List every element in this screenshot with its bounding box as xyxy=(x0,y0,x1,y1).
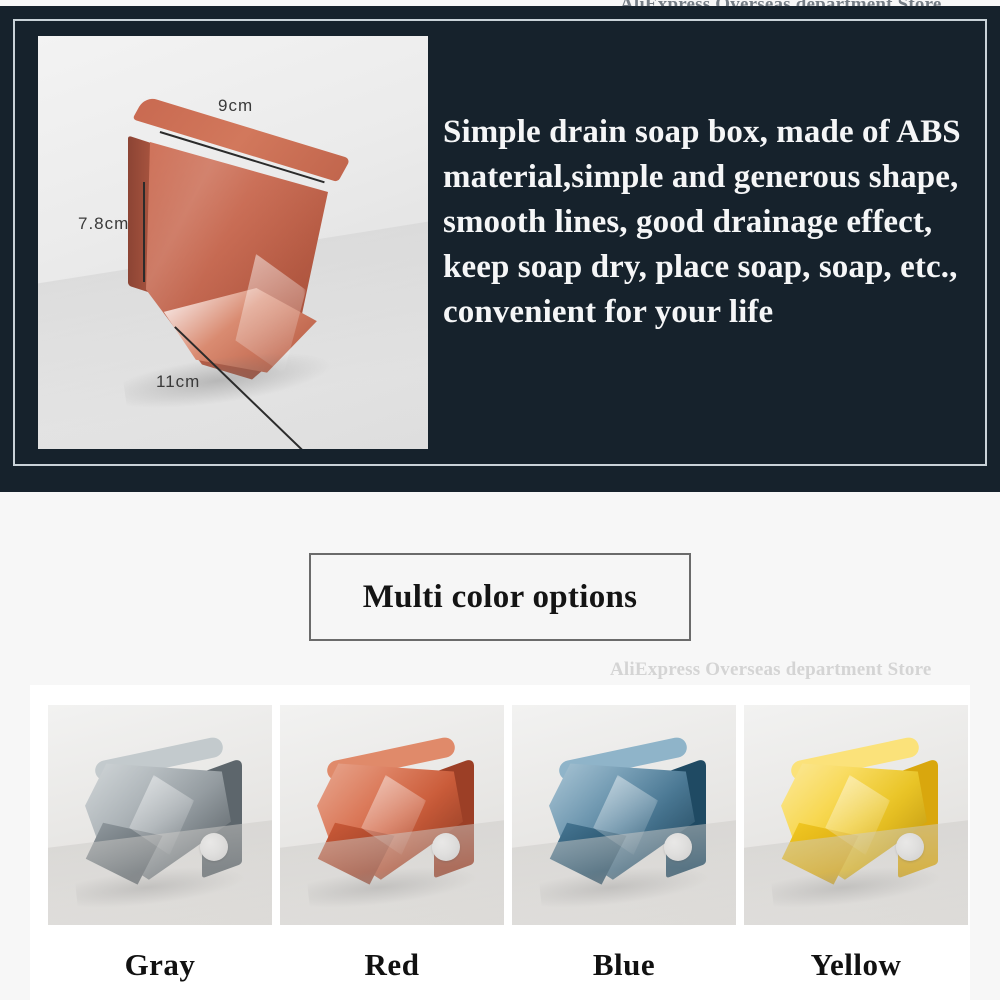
dish-shadow xyxy=(771,860,942,911)
section-heading-box: Multi color options xyxy=(309,553,691,641)
color-option-red[interactable]: Red xyxy=(280,705,504,983)
dimension-label-height: 7.8cm xyxy=(78,214,129,234)
color-option-blue[interactable]: Blue xyxy=(512,705,736,983)
color-option-image[interactable] xyxy=(744,705,968,925)
color-swatch-row: GrayRedBlueYellow xyxy=(48,705,952,983)
color-option-image[interactable] xyxy=(48,705,272,925)
dish-shadow xyxy=(75,860,246,911)
dimension-line-height xyxy=(143,182,145,282)
watermark-middle: AliExpress Overseas department Store xyxy=(610,659,932,681)
dish-shadow xyxy=(539,860,710,911)
soap-dish-illustration xyxy=(116,104,366,404)
dimension-label-width: 9cm xyxy=(218,96,253,116)
wall-mount-knob xyxy=(664,833,692,861)
section-heading-text: Multi color options xyxy=(363,579,638,616)
soap-dish-thumbnail xyxy=(306,741,482,901)
soap-dish-thumbnail xyxy=(538,741,714,901)
color-option-image[interactable] xyxy=(280,705,504,925)
dish-shadow xyxy=(307,860,478,911)
hero-description: Simple drain soap box, made of ABS mater… xyxy=(443,110,963,335)
wall-mount-knob xyxy=(432,833,460,861)
color-option-label: Yellow xyxy=(744,947,968,983)
soap-dish-thumbnail xyxy=(770,741,946,901)
color-option-image[interactable] xyxy=(512,705,736,925)
product-detail-page: AliExpress Overseas department Store 9cm… xyxy=(0,0,1000,1000)
color-option-label: Red xyxy=(280,947,504,983)
hero-panel: 9cm 7.8cm 11cm Simple drain soap box, ma… xyxy=(0,6,1000,492)
color-option-yellow[interactable]: Yellow xyxy=(744,705,968,983)
wall-mount-knob xyxy=(896,833,924,861)
color-options-card: GrayRedBlueYellow xyxy=(30,685,970,1000)
color-option-label: Gray xyxy=(48,947,272,983)
wall-mount-knob xyxy=(200,833,228,861)
dimension-label-depth: 11cm xyxy=(156,372,200,392)
color-option-label: Blue xyxy=(512,947,736,983)
product-photo: 9cm 7.8cm 11cm xyxy=(38,36,428,449)
color-option-gray[interactable]: Gray xyxy=(48,705,272,983)
soap-dish-thumbnail xyxy=(74,741,250,901)
